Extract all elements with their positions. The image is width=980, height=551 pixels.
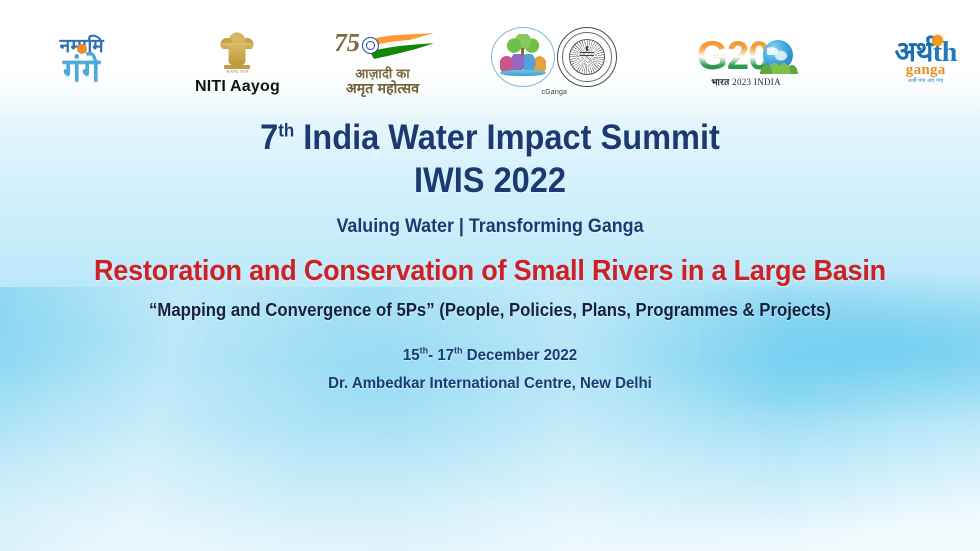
sponsor-logo-strip: नमामि गंगे सत्यमेव जयते NITI Aayog 75 [0,14,980,108]
namami-gange-dot-icon [77,44,87,54]
niti-aayog-label: NITI Aayog [195,78,280,96]
logo-cganga: cGanga [482,27,627,96]
logo-niti-aayog: सत्यमेव जयते NITI Aayog [178,27,297,96]
cganga-river-icon [500,70,546,76]
logo-g20-india-2023: G20 भारत 2023 INDIA [683,35,810,87]
azadi-line2-text: अमृत महोत्सव [328,81,438,95]
title-ordinal: th [278,120,294,140]
date-ordinal-end: th [454,346,463,357]
arth-ganga-sun-icon [932,35,943,46]
title-number: 7 [260,118,278,157]
date-day-end: 17 [437,347,454,364]
azadi-75-flag-icon: 75 [328,28,438,66]
page-title: 7th India Water Impact Summit [34,118,945,158]
date-day-start: 15 [403,347,420,364]
ashoka-emblem-icon: सत्यमेव जयते [217,27,257,75]
poster-content: 7th India Water Impact Summit IWIS 2022 … [0,118,980,393]
g20-sub-devanagari: भारत [711,77,729,87]
logo-azadi-ka-amrit-mahotsav: 75 आज़ादी का अमृत महोत्सव [319,28,446,95]
iit-kanpur-seal-core-icon [580,49,594,65]
cganga-people-icon [500,54,546,72]
ashoka-chakra-icon [362,37,379,54]
summit-venue: Dr. Ambedkar International Centre, New D… [29,375,950,393]
logo-namami-gange: नमामि गंगे [14,37,150,86]
cganga-caption: cGanga [541,89,567,96]
azadi-numeral-75: 75 [332,30,362,56]
g20-globe-lotus-icon [763,40,795,72]
azadi-line1-text: आज़ादी का [328,67,438,80]
date-ordinal-start: th [420,346,429,357]
g20-sub-latin: 2023 INDIA [732,77,781,87]
iit-kanpur-seal-icon [557,27,617,87]
g20-lotus-icon [760,59,798,74]
date-separator: - [428,347,437,364]
summit-theme: Restoration and Conservation of Small Ri… [34,255,945,288]
page-title-line2: IWIS 2022 [34,160,945,201]
summit-tagline: Valuing Water | Transforming Ganga [29,216,950,238]
summit-dates: 15th- 17th December 2022 [29,347,950,365]
summit-subtheme: “Mapping and Convergence of 5Ps” (People… [34,300,945,321]
g20-letters-text: G20 [697,36,770,76]
namami-gange-line1-icon: नमामि [60,37,105,56]
emblem-pillar-icon [229,46,246,65]
logo-arth-ganga: अर्थth ganga अर्थी गंगा अर्थ गंगा [871,39,980,84]
cganga-badge-icon [491,27,555,87]
emblem-motto-text: सत्यमेव जयते [226,69,248,75]
arth-ganga-tagline: अर्थी गंगा अर्थ गंगा [895,79,957,84]
namami-gange-line2-text: गंगे [60,54,105,86]
iwis-2022-poster: नमामि गंगे सत्यमेव जयते NITI Aayog 75 [0,0,980,551]
title-rest: India Water Impact Summit [294,118,720,157]
date-month-year: December 2022 [463,347,578,364]
